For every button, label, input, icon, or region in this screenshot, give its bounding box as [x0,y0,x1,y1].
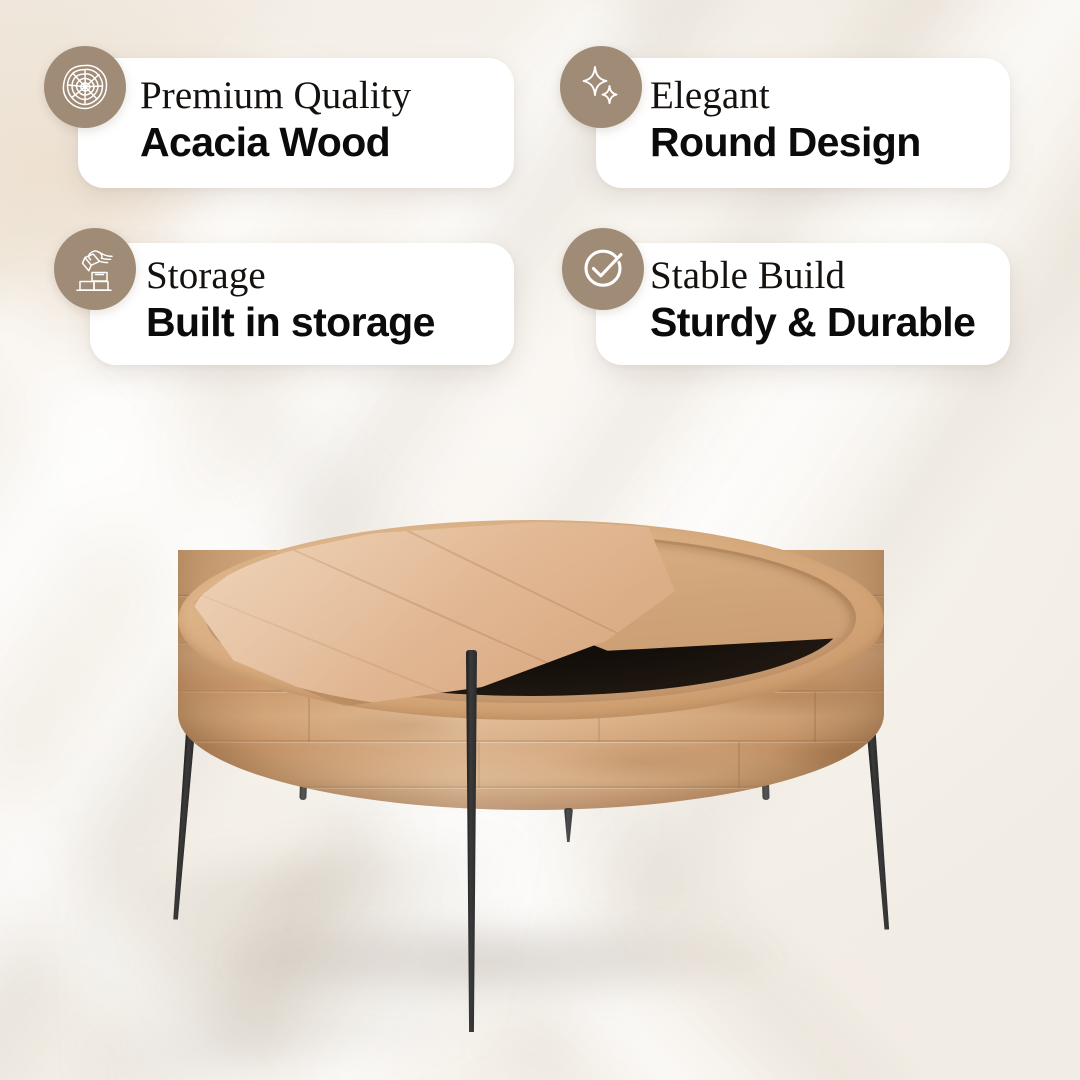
badge-eyebrow: Elegant [650,76,921,117]
badge-title: Acacia Wood [140,121,411,164]
floor-shadow [120,900,880,1020]
check-circle-icon [562,228,644,310]
badge-text-group: Premium Quality Acacia Wood [140,76,411,163]
sparkles-icon [560,46,642,128]
badge-text-group: Elegant Round Design [650,76,921,163]
badge-eyebrow: Storage [146,256,435,297]
infographic-canvas: Premium Quality Acacia Wood Elegant Roun… [0,0,1080,1080]
badge-title: Sturdy & Durable [650,301,975,344]
tree-rings-icon [44,46,126,128]
product-image-round-storage-coffee-table [0,400,1080,1080]
badge-eyebrow: Premium Quality [140,76,411,117]
hand-brick-icon [54,228,136,310]
badge-text-group: Stable Build Sturdy & Durable [650,256,975,343]
badge-text-group: Storage Built in storage [146,256,435,343]
badge-title: Built in storage [146,301,435,344]
badge-title: Round Design [650,121,921,164]
badge-eyebrow: Stable Build [650,256,975,297]
